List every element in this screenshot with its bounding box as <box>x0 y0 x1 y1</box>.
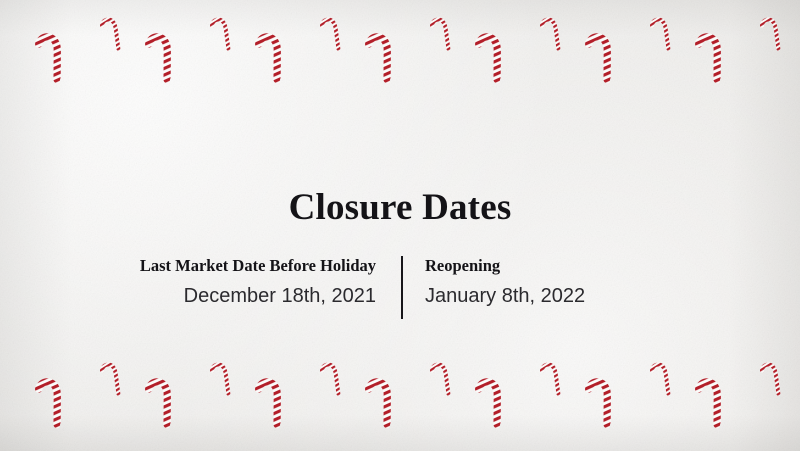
holiday-closure-poster: HOLIDAY Closure Dates Last Market Date B… <box>0 0 800 451</box>
closure-dates-group: Last Market Date Before Holiday December… <box>0 256 800 324</box>
last-market-date-heading: Last Market Date Before Holiday <box>60 256 376 277</box>
last-market-date-column: Last Market Date Before Holiday December… <box>60 256 376 308</box>
poster-content: HOLIDAY Closure Dates Last Market Date B… <box>0 0 800 451</box>
reopening-heading: Reopening <box>425 256 745 277</box>
last-market-date-value: December 18th, 2021 <box>60 284 376 308</box>
holiday-arch-text: HOLIDAY <box>250 128 550 184</box>
page-title: Closure Dates <box>0 186 800 229</box>
column-divider <box>401 256 403 319</box>
reopening-column: Reopening January 8th, 2022 <box>425 256 745 308</box>
reopening-value: January 8th, 2022 <box>425 284 745 308</box>
